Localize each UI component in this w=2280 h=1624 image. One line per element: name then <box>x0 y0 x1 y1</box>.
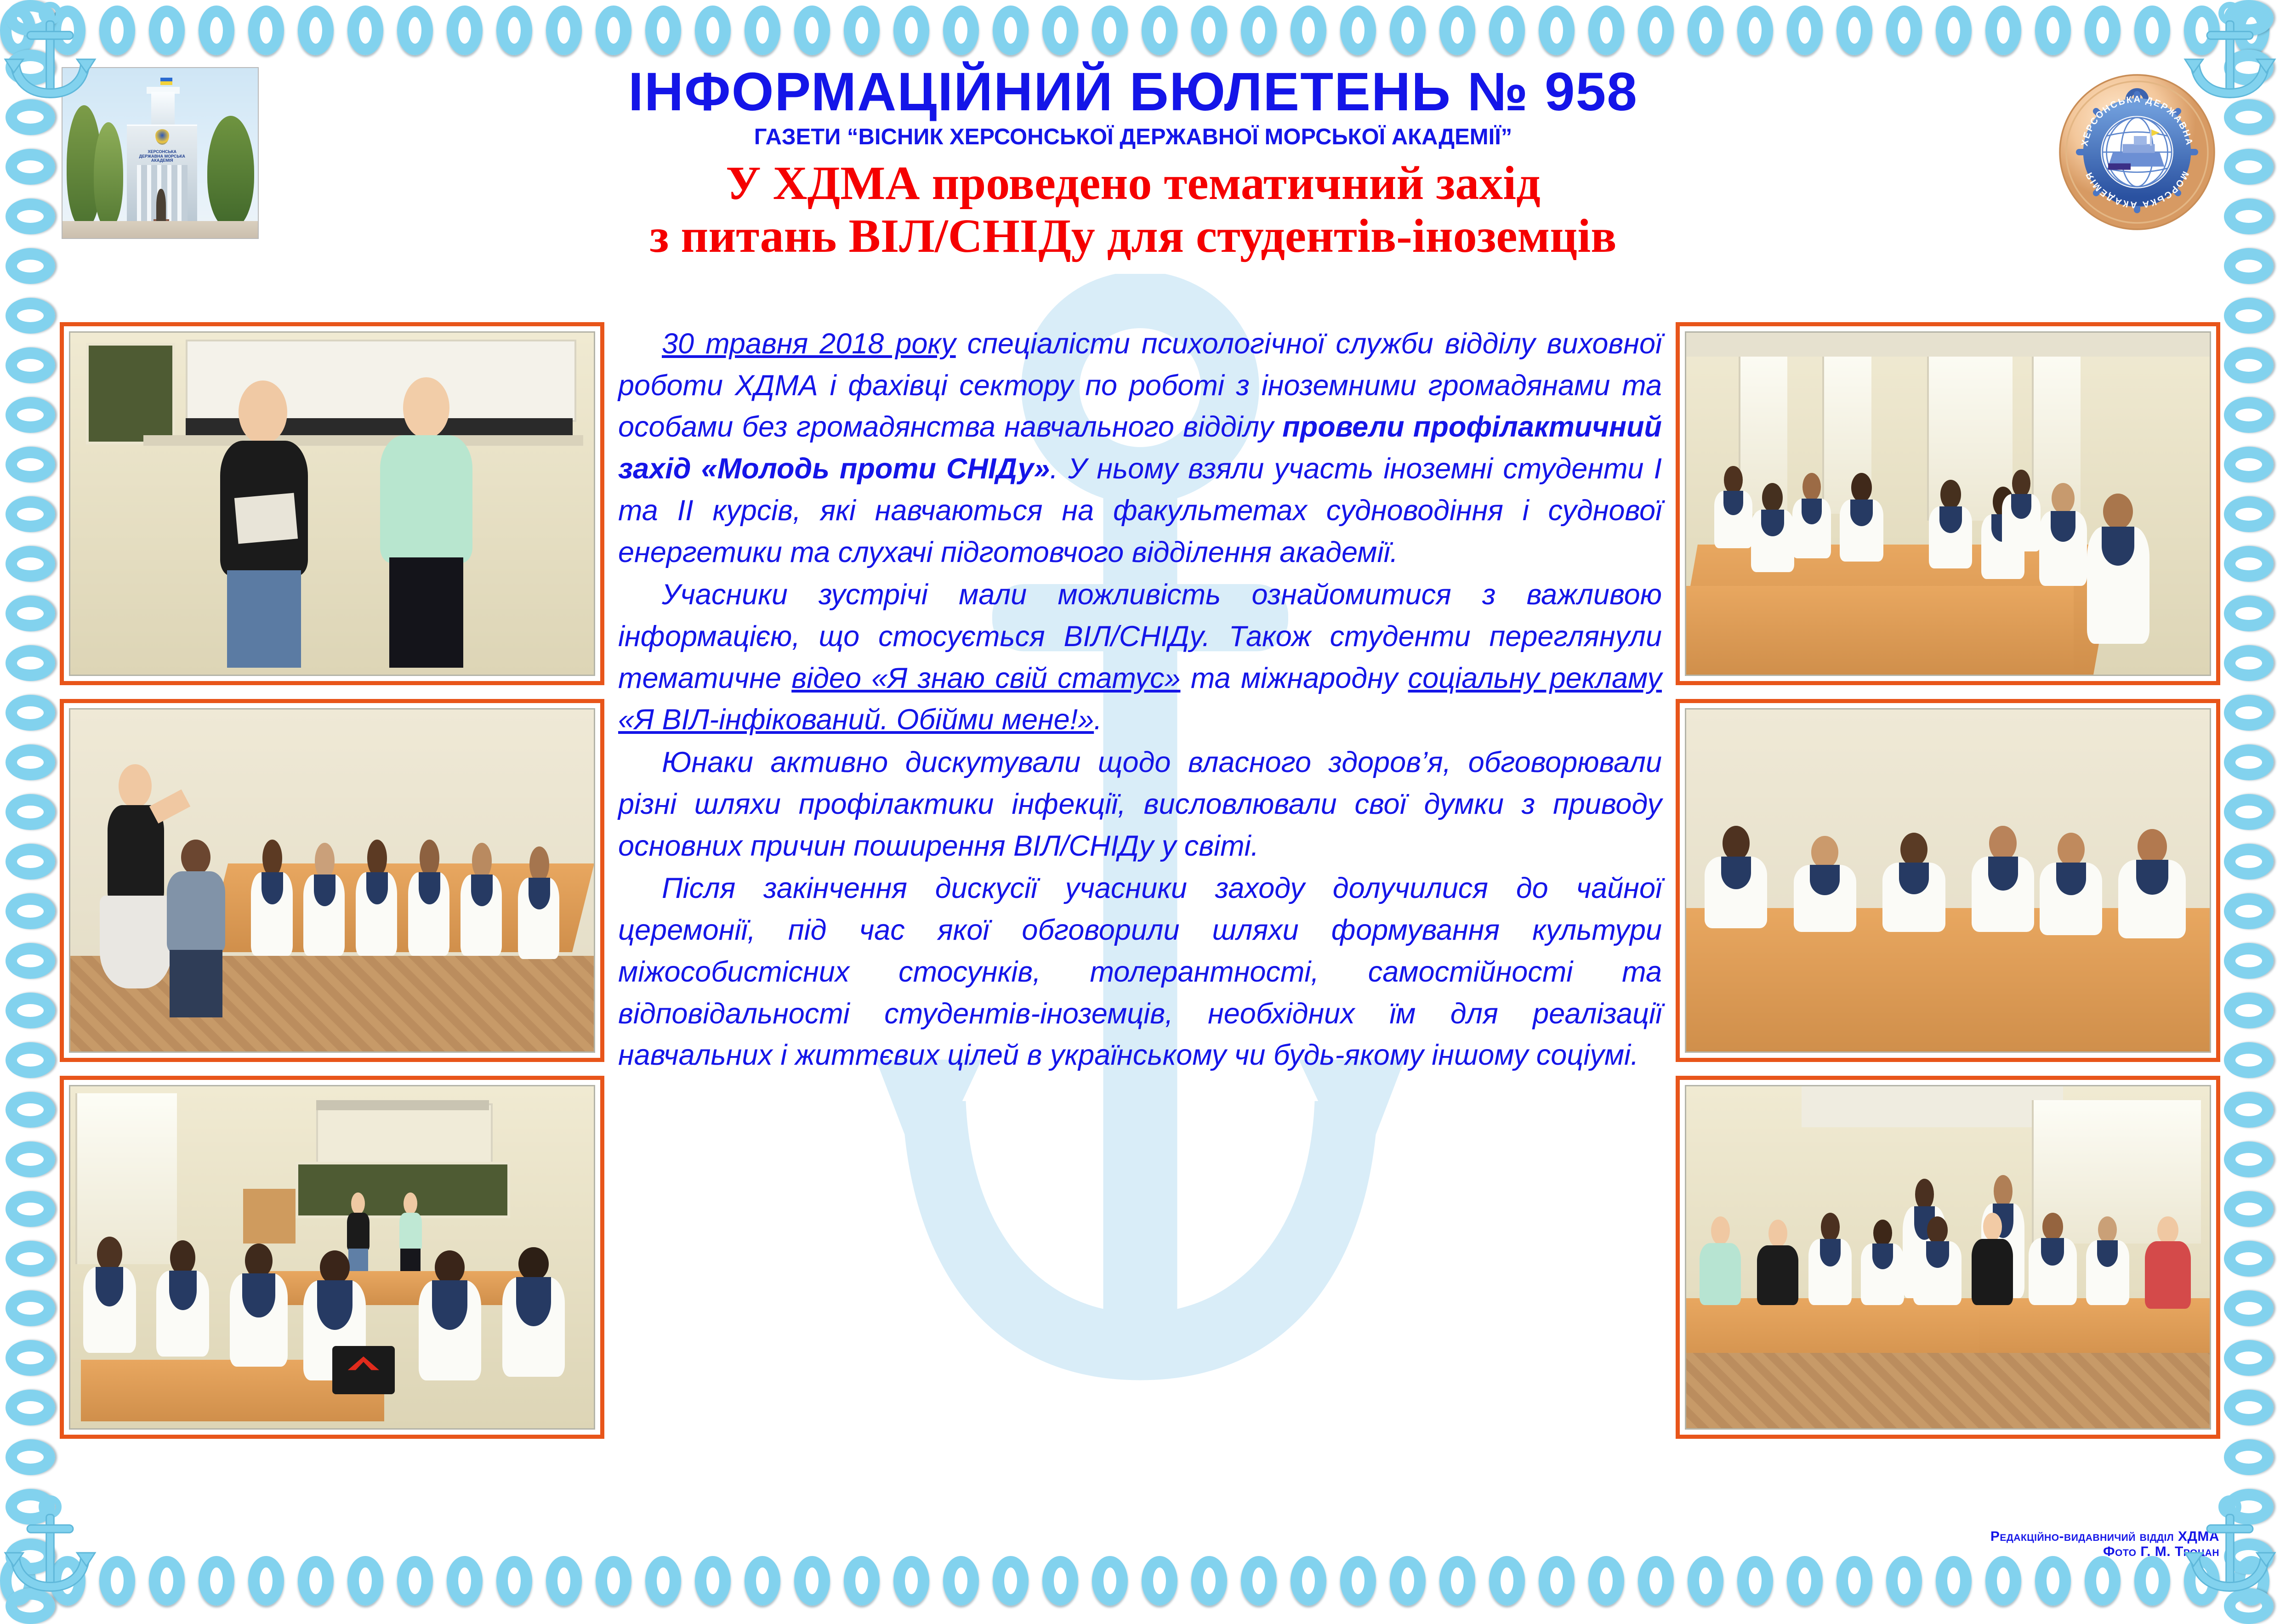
chain-link <box>2224 50 2274 85</box>
chain-link <box>844 1556 880 1606</box>
chain-link <box>496 6 532 55</box>
chain-link <box>6 347 55 383</box>
chain-link <box>993 1556 1029 1606</box>
photo-left-3[interactable] <box>60 1076 604 1439</box>
chain-link <box>2224 993 2274 1028</box>
chain-link <box>794 1556 830 1606</box>
chain-link <box>199 6 234 55</box>
chain-link <box>2224 1042 2274 1078</box>
chain-link <box>2224 397 2274 433</box>
chain-link <box>1191 1556 1227 1606</box>
left-photo-column <box>60 322 604 1520</box>
newspaper-subtitle: ГАЗЕТИ “ВІСНИК ХЕРСОНСЬКОЇ ДЕРЖАВНОЇ МОР… <box>260 125 2006 150</box>
chain-border-right <box>2222 0 2276 1612</box>
chain-link <box>1985 6 2021 55</box>
chain-link <box>1390 6 1426 55</box>
chain-link <box>1737 1556 1773 1606</box>
chain-link <box>1241 6 1277 55</box>
chain-link <box>2224 99 2274 135</box>
chain-link <box>6 1191 55 1227</box>
chain-link <box>546 1556 582 1606</box>
chain-link <box>6 943 55 979</box>
chain-link <box>2224 149 2274 185</box>
article-paragraph: Після закінчення дискусії учасники заход… <box>618 868 1662 1076</box>
building-sign: ХЕРСОНСЬКА ДЕРЖАВНА МОРСЬКА АКАДЕМІЯ <box>137 150 188 162</box>
chain-link <box>943 1556 979 1606</box>
chain-link <box>1837 1556 1872 1606</box>
article-paragraph: Юнаки активно дискутували щодо власного … <box>618 742 1662 867</box>
chain-link <box>1092 6 1128 55</box>
chain-link <box>943 6 979 55</box>
chain-link <box>645 1556 681 1606</box>
chain-link <box>6 1092 55 1128</box>
chain-link <box>6 248 55 284</box>
chain-link <box>1985 1556 2021 1606</box>
chain-link <box>6 695 55 731</box>
chain-link <box>2085 1556 2121 1606</box>
chain-link <box>6 546 55 582</box>
chain-link <box>745 6 780 55</box>
chain-link <box>1390 1556 1426 1606</box>
photo-right-3[interactable] <box>1676 1076 2220 1439</box>
chain-link <box>1291 6 1326 55</box>
chain-link <box>6 298 55 334</box>
photo-right-1[interactable] <box>1676 322 2220 685</box>
academy-crest-icon <box>155 129 169 144</box>
article-run: Після закінчення дискусії учасники заход… <box>618 872 1662 1071</box>
chain-link <box>2224 695 2274 731</box>
article-underlined-run: відео «Я знаю свій статус» <box>791 662 1180 694</box>
academy-emblem-logo: ХЕРСОНСЬКА ДЕРЖАВНА МОРСЬКА АКАДЕМІЯ <box>2057 72 2217 233</box>
article-text-column: 30 травня 2018 року спеціалісти психолог… <box>616 322 1664 1520</box>
headline-line-2: з питань ВІЛ/СНІДу для студентів-іноземц… <box>260 210 2006 262</box>
chain-link <box>1737 6 1773 55</box>
chain-link <box>844 6 880 55</box>
chain-link <box>2224 1290 2274 1326</box>
chain-link <box>2224 1539 2274 1574</box>
chain-link <box>6 993 55 1028</box>
chain-link <box>2224 1141 2274 1177</box>
chain-link <box>6 1390 55 1425</box>
chain-link <box>6 1141 55 1177</box>
chain-link <box>1092 1556 1128 1606</box>
chain-link <box>1191 6 1227 55</box>
chain-link <box>2224 943 2274 979</box>
chain-link <box>2224 844 2274 880</box>
chain-link <box>397 6 433 55</box>
chain-link <box>1539 1556 1575 1606</box>
chain-link <box>1837 6 1872 55</box>
article-underlined-run: 30 травня 2018 року <box>662 328 956 360</box>
chain-link <box>2035 6 2071 55</box>
chain-link <box>794 6 830 55</box>
chain-link <box>2134 1556 2170 1606</box>
chain-link <box>2184 1556 2220 1606</box>
chain-link <box>298 1556 334 1606</box>
headline-line-1: У ХДМА проведено тематичний захід <box>726 157 1540 210</box>
academy-building-photo: ХЕРСОНСЬКА ДЕРЖАВНА МОРСЬКА АКАДЕМІЯ <box>62 67 259 239</box>
chain-link <box>1439 1556 1475 1606</box>
chain-link <box>2224 596 2274 631</box>
chain-link <box>2224 794 2274 830</box>
chain-link <box>199 1556 234 1606</box>
chain-link <box>6 1042 55 1078</box>
chain-link <box>248 6 284 55</box>
chain-link <box>645 6 681 55</box>
chain-link <box>2224 1092 2274 1128</box>
chain-link <box>2224 298 2274 334</box>
chain-link <box>1142 6 1177 55</box>
footer-publisher: Редакційно-видавничий відділ ХДМА <box>1990 1529 2219 1545</box>
chain-link <box>6 794 55 830</box>
chain-link <box>447 1556 483 1606</box>
chain-border-left <box>4 0 58 1612</box>
chain-link <box>6 1588 55 1624</box>
chain-link <box>2134 6 2170 55</box>
chain-link <box>6 1241 55 1277</box>
chain-link <box>1241 1556 1277 1606</box>
chain-link <box>298 6 334 55</box>
chain-link <box>1042 1556 1078 1606</box>
chain-link <box>2224 447 2274 483</box>
chain-link <box>2224 1439 2274 1475</box>
chain-link <box>397 1556 433 1606</box>
chain-link <box>6 1539 55 1574</box>
building-sign-line3: АКАДЕМІЯ <box>137 159 188 163</box>
chain-border-bottom <box>0 1554 2280 1608</box>
chain-link <box>2224 744 2274 780</box>
chain-link <box>2224 248 2274 284</box>
chain-link <box>993 6 1029 55</box>
chain-link <box>6 744 55 780</box>
ukraine-flag-icon <box>160 78 172 85</box>
footer-photo-credit: Фото Г. М. Троцан <box>1990 1544 2219 1560</box>
article-paragraph: 30 травня 2018 року спеціалісти психолог… <box>618 323 1662 573</box>
chain-link <box>6 1290 55 1326</box>
chain-link <box>2224 1390 2274 1425</box>
chain-link <box>6 199 55 234</box>
chain-link <box>1489 1556 1525 1606</box>
chain-link <box>6 844 55 880</box>
chain-link <box>6 447 55 483</box>
chain-link <box>2224 1241 2274 1277</box>
chain-link <box>1638 6 1674 55</box>
chain-link <box>6 596 55 631</box>
chain-link <box>149 6 185 55</box>
chain-link <box>248 1556 284 1606</box>
chain-link <box>1588 6 1624 55</box>
page-header: ХЕРСОНСЬКА ДЕРЖАВНА МОРСЬКА АКАДЕМІЯ ІНФ… <box>58 58 2222 322</box>
article-body: 30 травня 2018 року спеціалісти психолог… <box>616 322 1664 1076</box>
chain-link <box>2035 1556 2071 1606</box>
chain-link <box>1638 1556 1674 1606</box>
chain-link <box>2085 6 2121 55</box>
chain-link <box>1886 6 1922 55</box>
chain-link <box>1787 6 1823 55</box>
chain-link <box>2224 1489 2274 1525</box>
chain-border-top <box>0 4 2280 58</box>
chain-link <box>1340 6 1376 55</box>
chain-link <box>2224 645 2274 681</box>
chain-link <box>2184 6 2220 55</box>
chain-link <box>99 1556 135 1606</box>
bulletin-page: ХЕРСОНСЬКА ДЕРЖАВНА МОРСЬКА АКАДЕМІЯ ІНФ… <box>58 58 2222 1554</box>
chain-link <box>6 397 55 433</box>
chain-link <box>1886 1556 1922 1606</box>
chain-link <box>596 6 631 55</box>
chain-link <box>347 6 383 55</box>
monument-statue <box>156 189 166 226</box>
chain-link <box>6 1489 55 1525</box>
chain-link <box>2224 347 2274 383</box>
chain-link <box>2224 1340 2274 1376</box>
chain-link <box>2224 1588 2274 1624</box>
chain-link <box>695 1556 731 1606</box>
chain-link <box>50 1556 85 1606</box>
chain-link <box>447 6 483 55</box>
chain-link <box>1936 6 1972 55</box>
content-columns: 30 травня 2018 року спеціалісти психолог… <box>58 322 2222 1520</box>
article-run: Юнаки активно дискутували щодо власного … <box>618 746 1662 862</box>
photo-right-2[interactable] <box>1676 699 2220 1062</box>
chain-link <box>2224 496 2274 532</box>
chain-link <box>893 1556 929 1606</box>
chain-link <box>149 1556 185 1606</box>
chain-link <box>6 1439 55 1475</box>
chain-link <box>1936 1556 1972 1606</box>
page-footer: Редакційно-видавничий відділ ХДМА Фото Г… <box>1990 1529 2219 1560</box>
chain-link <box>2234 6 2269 55</box>
chain-link <box>893 6 929 55</box>
chain-link <box>1787 1556 1823 1606</box>
article-headline: У ХДМА проведено тематичний захід з пита… <box>260 157 2006 262</box>
chain-link <box>6 149 55 185</box>
photo-left-2[interactable] <box>60 699 604 1062</box>
right-photo-column <box>1676 322 2220 1520</box>
chain-link <box>6 496 55 532</box>
article-paragraph: Учасники зустрічі мали можливість ознайо… <box>618 574 1662 741</box>
header-titles: ІНФОРМАЦІЙНИЙ БЮЛЕТЕНЬ № 958 ГАЗЕТИ “ВІС… <box>260 64 2006 262</box>
chain-link <box>2224 0 2274 36</box>
chain-link <box>695 6 731 55</box>
chain-link <box>1489 6 1525 55</box>
chain-link <box>1340 1556 1376 1606</box>
chain-link <box>546 6 582 55</box>
chain-link <box>6 99 55 135</box>
chain-link <box>2224 1191 2274 1227</box>
article-run: та міжнародну <box>1181 662 1408 694</box>
chain-link <box>1539 6 1575 55</box>
chain-link <box>1688 1556 1723 1606</box>
chain-link <box>1291 1556 1326 1606</box>
chain-link <box>6 893 55 929</box>
chain-link <box>6 50 55 85</box>
chain-link <box>0 1556 36 1606</box>
chain-link <box>596 1556 631 1606</box>
chain-link <box>347 1556 383 1606</box>
chain-link <box>99 6 135 55</box>
chain-link <box>1042 6 1078 55</box>
chain-link <box>6 0 55 36</box>
chain-link <box>50 6 85 55</box>
chain-link <box>6 645 55 681</box>
chain-link <box>6 1340 55 1376</box>
chain-link <box>745 1556 780 1606</box>
chain-link <box>1588 1556 1624 1606</box>
photo-left-1[interactable] <box>60 322 604 685</box>
chain-link <box>1688 6 1723 55</box>
chain-link <box>1439 6 1475 55</box>
chain-link <box>1142 1556 1177 1606</box>
chain-link <box>2224 546 2274 582</box>
chain-link <box>2224 199 2274 234</box>
chain-link <box>0 6 36 55</box>
chain-link <box>2234 1556 2269 1606</box>
chain-link <box>2224 893 2274 929</box>
article-run: . <box>1094 704 1102 736</box>
chain-link <box>496 1556 532 1606</box>
bulletin-title: ІНФОРМАЦІЙНИЙ БЮЛЕТЕНЬ № 958 <box>260 64 2006 119</box>
